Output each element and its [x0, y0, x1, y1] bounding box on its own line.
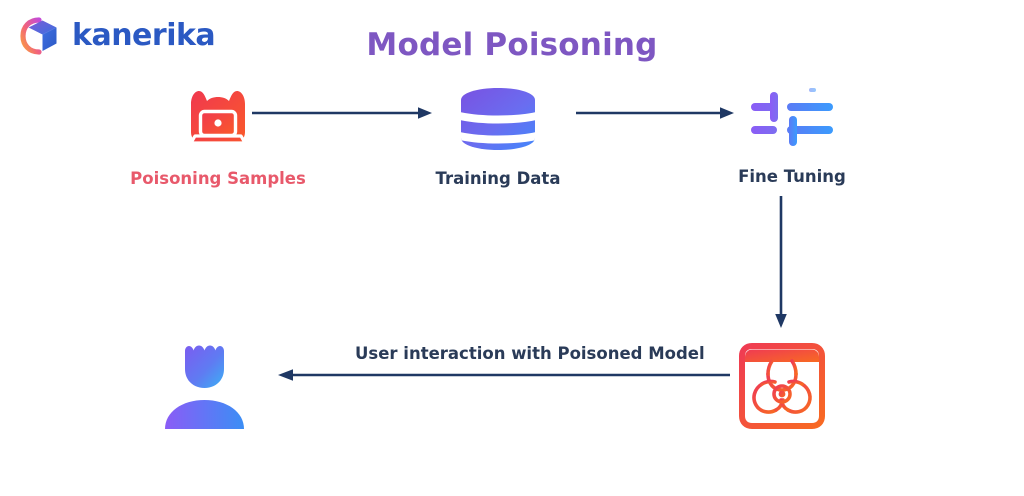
sliders-icon — [749, 86, 835, 155]
edge-finetuning-to-model — [772, 196, 790, 333]
edge-training-to-finetuning — [576, 104, 734, 127]
node-user[interactable] — [150, 335, 260, 450]
infected-laptop-icon — [179, 86, 257, 157]
node-label-training-data: Training Data — [436, 169, 561, 188]
node-label-fine-tuning: Fine Tuning — [738, 167, 846, 186]
edge-model-to-user — [278, 366, 730, 389]
biohazard-window-icon — [732, 338, 832, 439]
node-label-poisoning-samples: Poisoning Samples — [130, 169, 306, 188]
edge-poisoning-to-training — [252, 104, 432, 127]
node-training-data[interactable]: Training Data — [418, 86, 578, 188]
page-title: Model Poisoning — [0, 27, 1024, 63]
node-fine-tuning[interactable]: Fine Tuning — [712, 86, 872, 186]
node-poisoning-samples[interactable]: Poisoning Samples — [118, 86, 318, 188]
edge-label-user-interaction: User interaction with Poisoned Model — [349, 344, 711, 363]
node-poisoned-model[interactable] — [722, 338, 842, 451]
diagram-canvas: kanerika Model Poisoning — [0, 0, 1024, 496]
database-icon — [455, 86, 541, 157]
user-avatar-icon — [155, 335, 255, 438]
